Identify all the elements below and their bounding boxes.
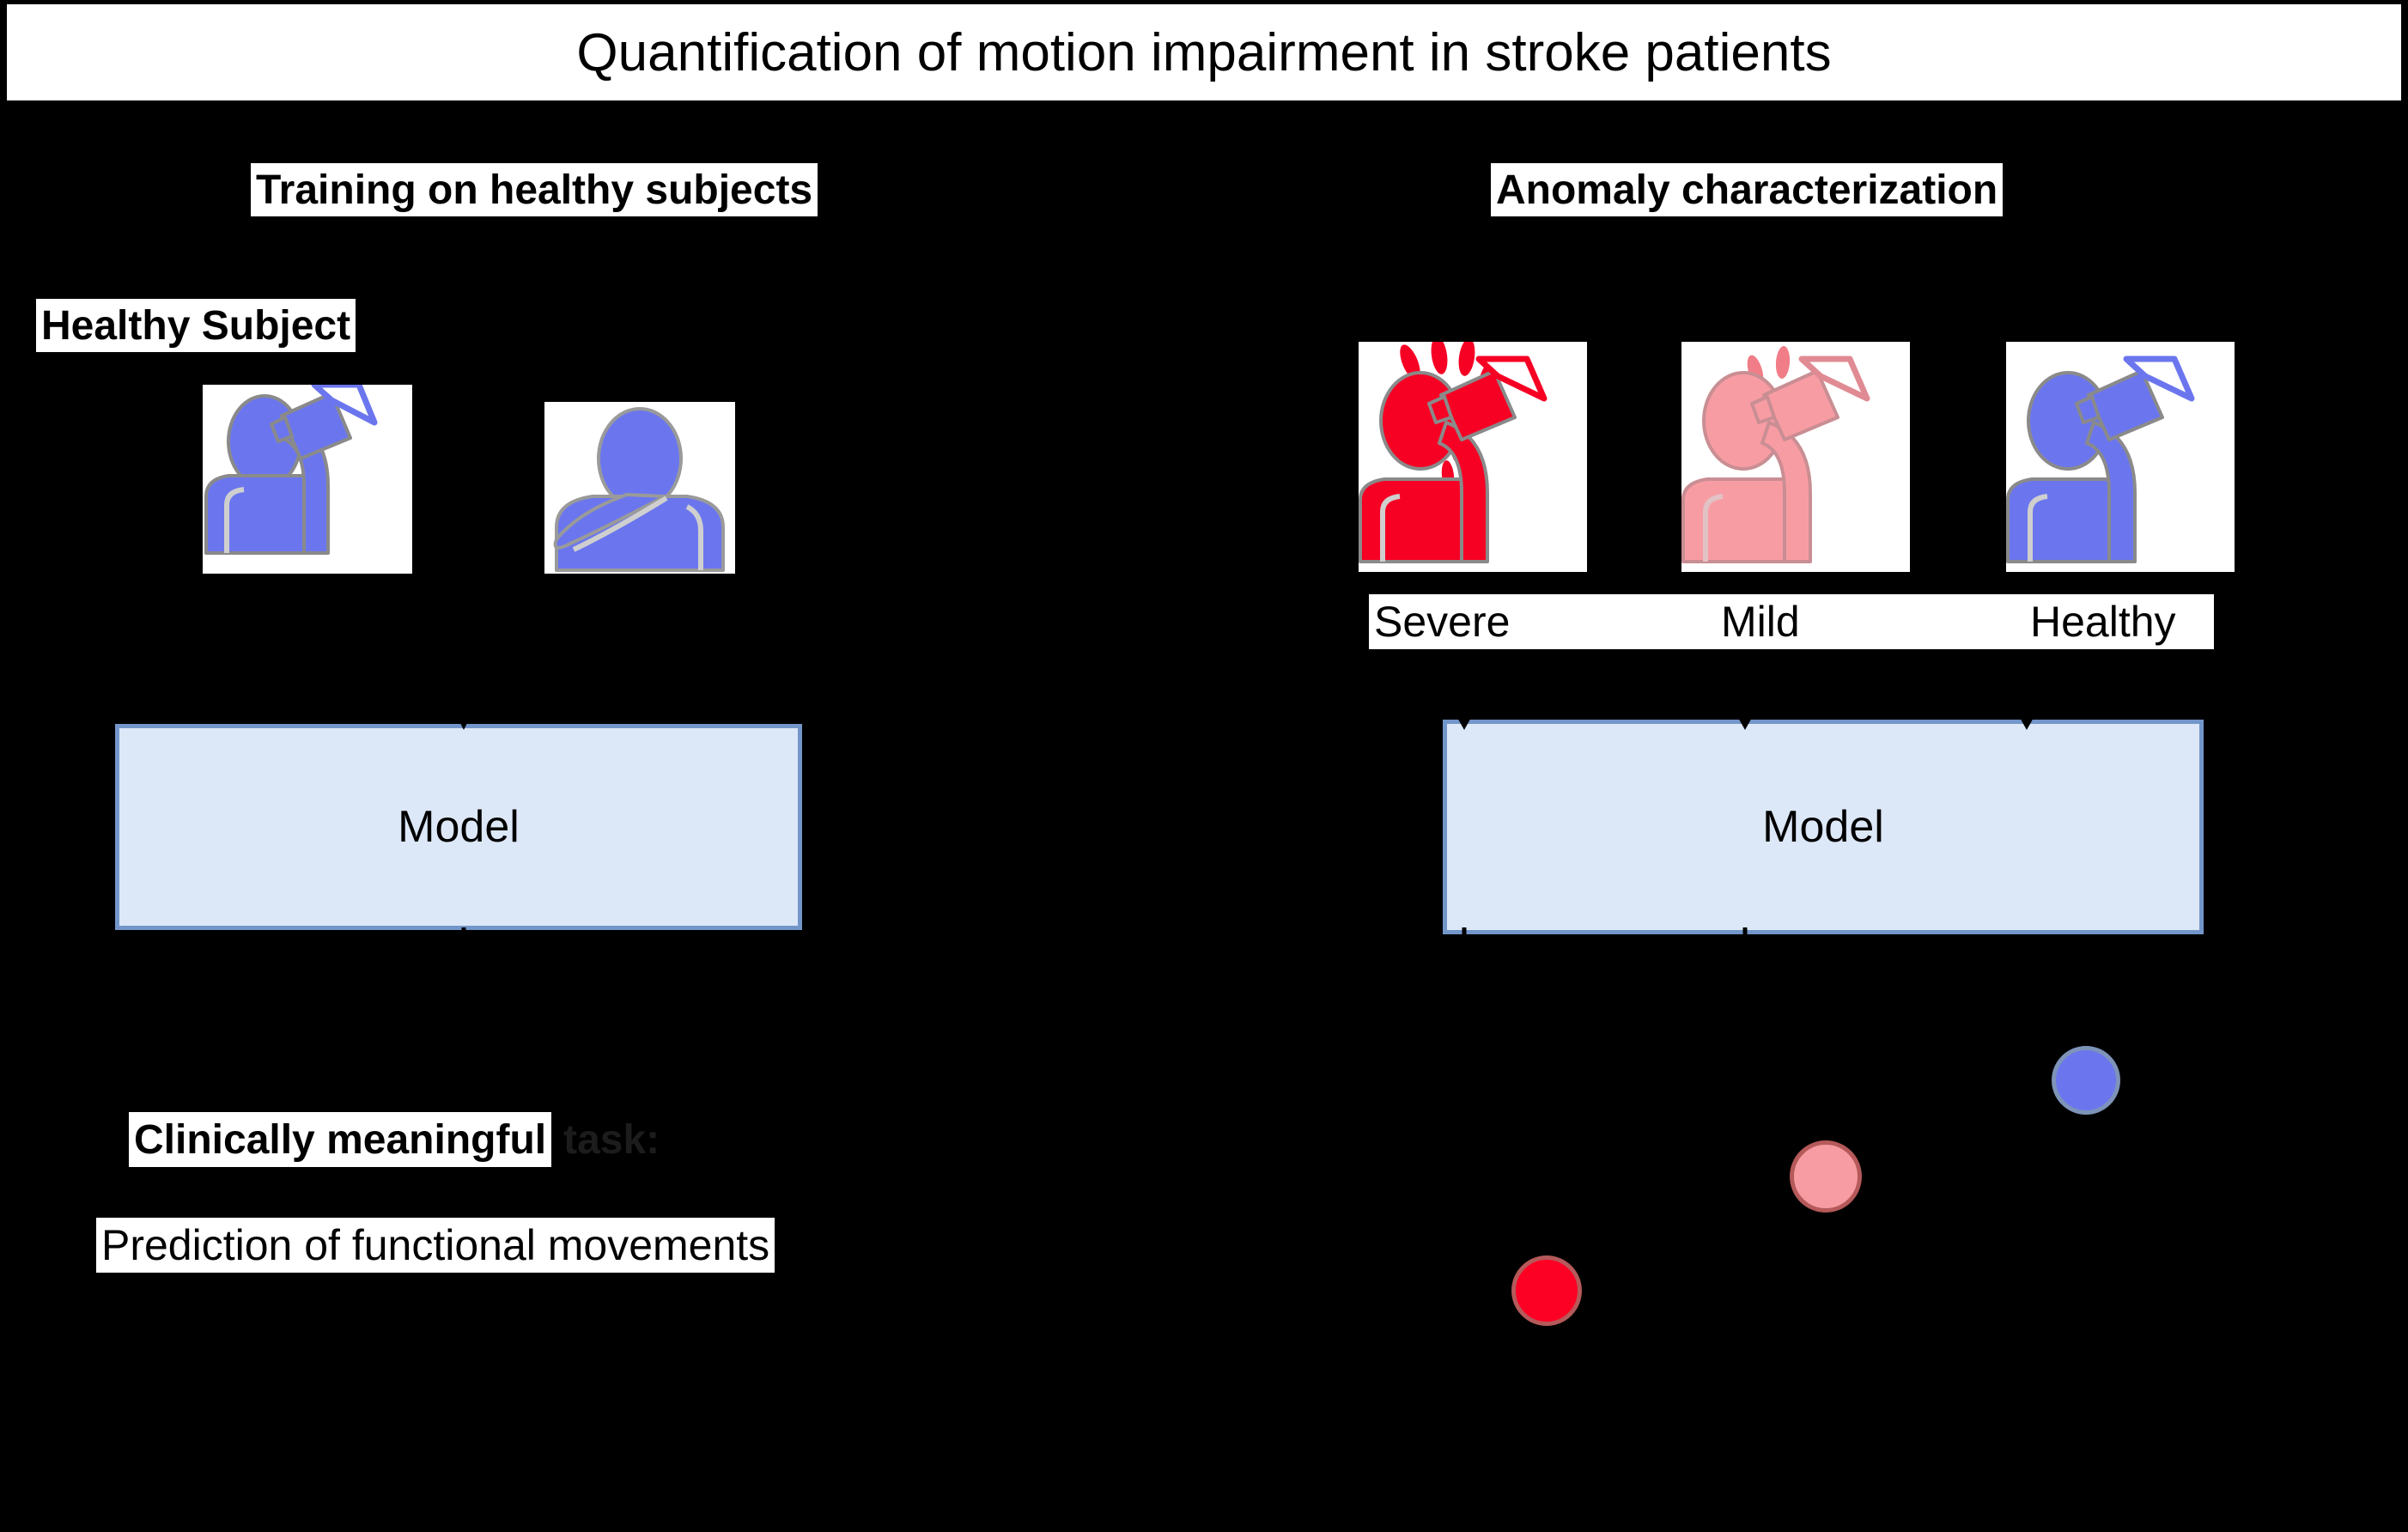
page-title: Quantification of motion impairment in s… xyxy=(576,22,1831,83)
severity-label-mild: Mild xyxy=(1721,594,1800,649)
clinical-task-prefix: Clinically meaningful xyxy=(129,1112,551,1167)
healthy-subject-label: Healthy Subject xyxy=(36,299,356,352)
section-header-anomaly: Anomaly characterization xyxy=(1491,163,2003,216)
scatter-point-mild xyxy=(1790,1140,1862,1213)
severity-label-healthy: Healthy xyxy=(2030,594,2176,649)
person-drinking-healthy-icon xyxy=(2006,342,2235,572)
scatter-point-healthy xyxy=(2052,1046,2120,1115)
clinical-task-suffix: task: xyxy=(551,1112,660,1167)
person-drinking-icon xyxy=(203,385,412,574)
model-box-label: Model xyxy=(1762,801,1884,853)
person-drinking-severe-icon xyxy=(1359,342,1587,572)
severity-label-strip: Severe Mild Healthy xyxy=(1369,594,2214,649)
person-drinking-mild-icon xyxy=(1681,342,1910,572)
clinical-task-description: Prediction of functional movements xyxy=(96,1218,775,1273)
arrow-out-of-model-right-b xyxy=(1728,927,1762,996)
model-box-training[interactable]: Model xyxy=(115,724,802,930)
clinical-task-line: Clinically meaningful task: xyxy=(129,1112,660,1167)
scatter-point-severe xyxy=(1511,1255,1582,1326)
arrow-out-of-model-left xyxy=(447,927,481,1005)
arrow-out-of-model-right-a xyxy=(1447,927,1481,996)
pictogram-person-drinking-healthy xyxy=(2006,342,2235,572)
severity-label-severe: Severe xyxy=(1374,594,1510,649)
pictogram-person-drinking xyxy=(203,385,412,574)
title-bar: Quantification of motion impairment in s… xyxy=(7,4,2401,100)
pictogram-person-drinking-severe xyxy=(1359,342,1587,572)
section-header-training: Training on healthy subjects xyxy=(251,163,818,216)
pictogram-person-hand-on-chest xyxy=(544,402,735,574)
arrow-into-model-left xyxy=(447,653,481,730)
model-box-anomaly[interactable]: Model xyxy=(1443,720,2204,934)
pictogram-person-drinking-mild xyxy=(1681,342,1910,572)
person-hand-on-chest-icon xyxy=(544,402,735,574)
model-box-label: Model xyxy=(398,801,520,853)
